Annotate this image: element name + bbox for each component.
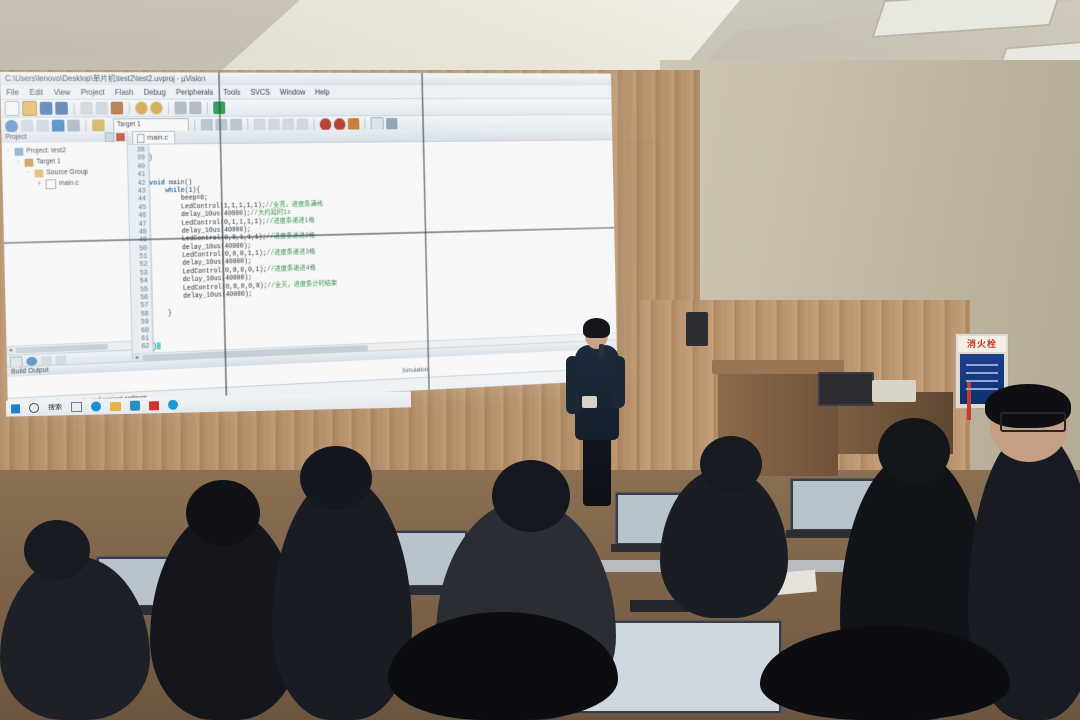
search-input[interactable]: 搜索	[48, 402, 62, 412]
editor-area: main.c 383940414243444546474849505152535…	[127, 128, 616, 363]
project-panel: Project - Project: test2	[1, 131, 132, 368]
translate-icon[interactable]	[230, 118, 242, 131]
menu-item-window[interactable]: Window	[280, 87, 306, 96]
tree-node-label: Source Group	[46, 169, 88, 177]
menu-item-edit[interactable]: Edit	[30, 87, 44, 96]
build-icon[interactable]	[52, 119, 65, 132]
student-head	[492, 460, 570, 532]
batch-build-icon[interactable]	[215, 118, 227, 131]
copy-icon[interactable]	[95, 102, 108, 115]
project-icon	[14, 147, 23, 155]
project-tree[interactable]: - Project: test2 - Target 1 -	[2, 142, 132, 346]
student-head	[878, 418, 950, 484]
line-number: 41	[128, 171, 148, 179]
paste-icon[interactable]	[111, 102, 124, 115]
search-icon[interactable]	[29, 403, 39, 413]
rebuild-icon[interactable]	[67, 119, 80, 132]
code-editor[interactable]: 3839404142434445464748495051525354555657…	[128, 140, 617, 353]
watch-window-icon[interactable]	[348, 118, 360, 130]
student-head	[300, 446, 372, 510]
c-file-icon	[137, 133, 145, 142]
tab-templates-icon[interactable]	[55, 355, 66, 364]
presenter-right-arm	[612, 356, 625, 408]
pin-panel-button[interactable]	[105, 132, 115, 142]
app-icon[interactable]	[168, 400, 178, 410]
tree-twisty[interactable]: -	[25, 170, 32, 177]
edge-icon[interactable]	[91, 401, 101, 411]
nav-back-icon[interactable]	[174, 102, 186, 115]
open-file-icon[interactable]	[22, 101, 37, 116]
scroll-left-button[interactable]: ◂	[7, 347, 15, 355]
tab-functions-icon[interactable]	[41, 355, 52, 364]
fire-hose-icon	[967, 380, 971, 420]
line-number: 42	[129, 179, 149, 188]
text-caret	[157, 343, 161, 350]
simulation-label: Simulation	[402, 367, 428, 375]
line-number: 59	[132, 319, 152, 328]
folder-icon	[34, 169, 43, 177]
line-number: 54	[131, 278, 151, 287]
student-head	[186, 480, 260, 546]
save-all-icon[interactable]	[55, 102, 68, 115]
step-over-icon[interactable]	[268, 118, 280, 131]
target-options-icon[interactable]	[92, 119, 105, 132]
configure-icon[interactable]	[386, 117, 397, 129]
presenter-hair	[583, 318, 610, 338]
undo-icon[interactable]	[135, 102, 147, 115]
presenter-legs	[583, 434, 611, 506]
projection-video-wall: C:\Users\lenovo\Desktop\单片机\test2\test2.…	[0, 72, 618, 412]
window-title: C:\Users\lenovo\Desktop\单片机\test2\test2.…	[0, 72, 611, 85]
podium-monitor	[818, 372, 874, 406]
line-number: 46	[129, 212, 149, 221]
close-panel-button[interactable]	[116, 133, 125, 141]
tree-node-main-c[interactable]: + main.c	[5, 177, 127, 190]
tree-twisty[interactable]: -	[5, 148, 12, 155]
target-icon	[24, 158, 33, 166]
menu-bar[interactable]: File Edit View Project Flash Debug Perip…	[0, 85, 611, 100]
tree-twisty[interactable]: -	[15, 159, 22, 166]
run-to-line-icon[interactable]	[297, 118, 309, 130]
presenter-left-arm	[566, 356, 579, 414]
tab-books-icon[interactable]	[26, 356, 37, 365]
eyeglasses-icon	[1000, 412, 1066, 432]
editor-tab-label: main.c	[147, 132, 168, 144]
start-icon[interactable]	[11, 404, 20, 413]
cut-icon[interactable]	[80, 102, 93, 115]
file-explorer-icon[interactable]	[110, 401, 121, 410]
insert-bookmark-icon[interactable]	[21, 119, 34, 132]
line-number: 40	[128, 163, 148, 171]
redo-icon[interactable]	[150, 102, 162, 115]
manage-project-icon[interactable]	[201, 118, 213, 131]
wall-speaker	[686, 312, 708, 346]
presenter-waist-pack	[582, 396, 597, 408]
breakpoint-icon[interactable]	[320, 118, 332, 130]
lecture-hall-scene: 消火栓 C:\Users\lenovo\Desktop\单片机\test2\te…	[0, 0, 1080, 720]
menu-item-flash[interactable]: Flash	[115, 87, 134, 96]
step-into-icon[interactable]	[254, 118, 266, 131]
menu-item-svcs[interactable]: SVCS	[250, 87, 270, 96]
student-head	[700, 436, 762, 492]
ide-body: Project - Project: test2	[1, 128, 616, 368]
line-number: 44	[129, 196, 149, 205]
tree-node-label: Project: test2	[26, 147, 66, 154]
student-head	[24, 520, 90, 580]
step-out-icon[interactable]	[282, 118, 294, 130]
line-number: 62	[132, 343, 152, 352]
nav-forward-icon[interactable]	[189, 102, 201, 115]
debug-session-icon[interactable]	[5, 119, 18, 132]
new-file-icon[interactable]	[5, 101, 20, 116]
comment-block-icon[interactable]	[36, 119, 49, 132]
editor-tab-main-c[interactable]: main.c	[132, 131, 175, 144]
menu-item-help[interactable]: Help	[315, 87, 330, 96]
menu-item-tools[interactable]: Tools	[223, 87, 240, 96]
tree-twisty[interactable]: +	[36, 180, 43, 187]
keil-uvision-window: C:\Users\lenovo\Desktop\单片机\test2\test2.…	[0, 72, 618, 412]
menu-item-view[interactable]: View	[54, 87, 71, 96]
tree-node-label: main.c	[59, 180, 79, 187]
menu-item-peripherals[interactable]: Peripherals	[176, 87, 214, 96]
microphone	[599, 344, 604, 357]
kill-breakpoints-icon[interactable]	[334, 118, 346, 130]
store-icon[interactable]	[130, 401, 140, 411]
menu-item-debug[interactable]: Debug	[144, 87, 166, 96]
wps-icon[interactable]	[149, 401, 159, 410]
c-file-icon	[45, 179, 56, 189]
podium-equipment	[872, 380, 916, 402]
code-lines[interactable]: }void main() while(1){ beep=0; LedContro…	[148, 142, 616, 351]
menu-item-file[interactable]: File	[6, 87, 19, 96]
save-icon[interactable]	[40, 102, 53, 115]
task-view-icon[interactable]	[71, 402, 82, 412]
line-number: 38	[128, 147, 148, 155]
project-panel-title: Project	[5, 132, 27, 143]
tree-node-label: Target 1	[36, 158, 61, 165]
fire-hydrant-label: 消火栓	[958, 336, 1006, 352]
line-number: 39	[128, 155, 148, 163]
menu-item-project[interactable]: Project	[81, 87, 105, 96]
